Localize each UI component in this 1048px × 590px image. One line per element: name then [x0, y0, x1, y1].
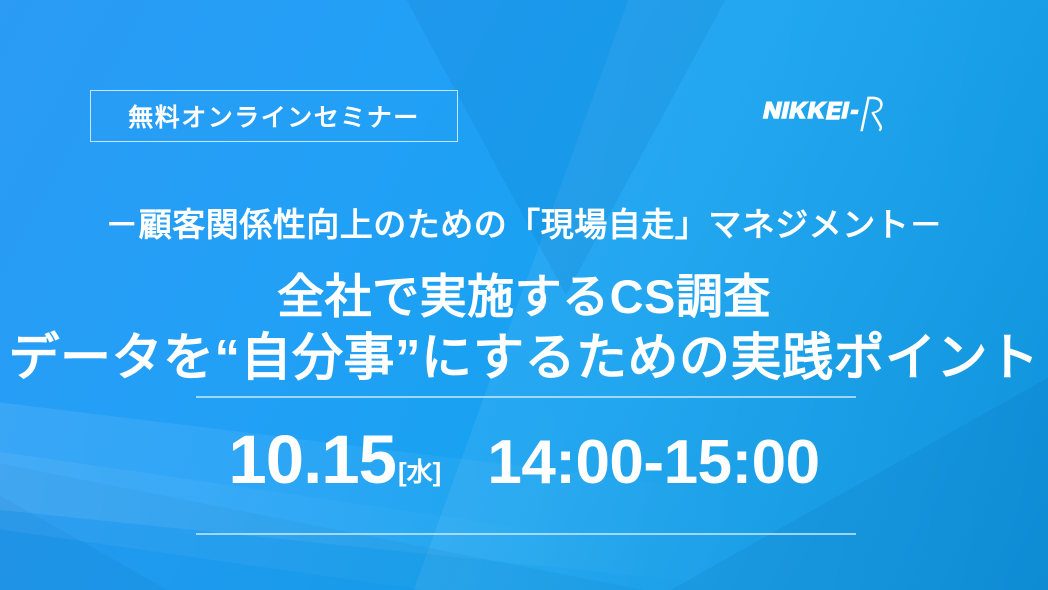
- schedule: 10.15 [水] 14:00-15:00: [0, 425, 1048, 494]
- subheadline: －顧客関係性向上のための「現場自走」マネジメント－: [0, 198, 1048, 246]
- schedule-time: 14:00-15:00: [487, 432, 819, 494]
- divider-bottom: [196, 533, 856, 535]
- schedule-date: 10.15: [228, 425, 396, 494]
- page-title-line-2: データを“自分事”にするための実践ポイント: [0, 316, 1048, 390]
- divider-top: [196, 396, 856, 398]
- free-seminar-badge: 無料オンラインセミナー: [90, 90, 458, 142]
- seminar-banner: 無料オンラインセミナー: [0, 0, 1048, 590]
- nikkei-r-logo: [760, 92, 896, 138]
- banner-content: 無料オンラインセミナー: [0, 0, 1048, 590]
- free-seminar-badge-label: 無料オンラインセミナー: [128, 98, 420, 134]
- schedule-day-of-week: [水]: [398, 452, 441, 489]
